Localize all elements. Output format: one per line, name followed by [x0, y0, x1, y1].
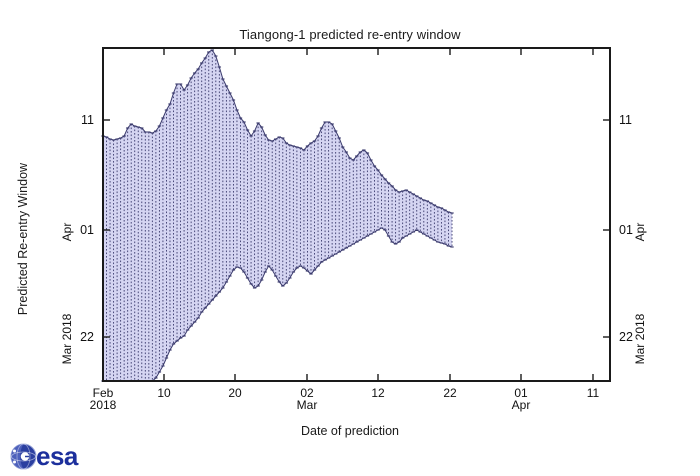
- x-tick-label: Apr: [512, 398, 531, 412]
- y-tick-label-left: 11: [81, 113, 94, 127]
- prediction-window-band: [103, 50, 452, 381]
- x-tick-label: 22: [443, 386, 457, 400]
- y-tick-label-right: 11: [619, 113, 632, 127]
- y-tick-label-right: 22: [619, 330, 633, 344]
- x-tick-label: 2018: [90, 398, 117, 412]
- y-tick-label-left: 22: [80, 330, 94, 344]
- y-axis-label: Predicted Re-entry Window: [16, 124, 30, 354]
- x-tick-label: 11: [587, 386, 600, 400]
- y-tick-label-left: 01: [80, 223, 94, 237]
- chart-figure: Tiangong-1 predicted re-entry window Dat…: [0, 0, 700, 476]
- y-tick-sublabel-right: Mar 2018: [633, 313, 647, 364]
- esa-globe-icon: [10, 443, 37, 470]
- esa-logo: esa: [10, 442, 118, 472]
- y-tick-label-right: 01: [619, 223, 633, 237]
- plot-area: Feb2018102002Mar122201Apr1111110101AprAp…: [0, 0, 700, 476]
- esa-wordmark: esa: [36, 441, 78, 472]
- y-tick-sublabel-left: Apr: [60, 223, 74, 242]
- y-tick-sublabel-left: Mar 2018: [60, 313, 74, 364]
- x-tick-label: 12: [371, 386, 385, 400]
- x-axis-label: Date of prediction: [0, 424, 700, 438]
- x-tick-label: Mar: [297, 398, 318, 412]
- y-tick-sublabel-right: Apr: [633, 223, 647, 242]
- x-tick-label: 20: [228, 386, 242, 400]
- x-tick-label: 10: [157, 386, 171, 400]
- chart-title: Tiangong-1 predicted re-entry window: [0, 27, 700, 42]
